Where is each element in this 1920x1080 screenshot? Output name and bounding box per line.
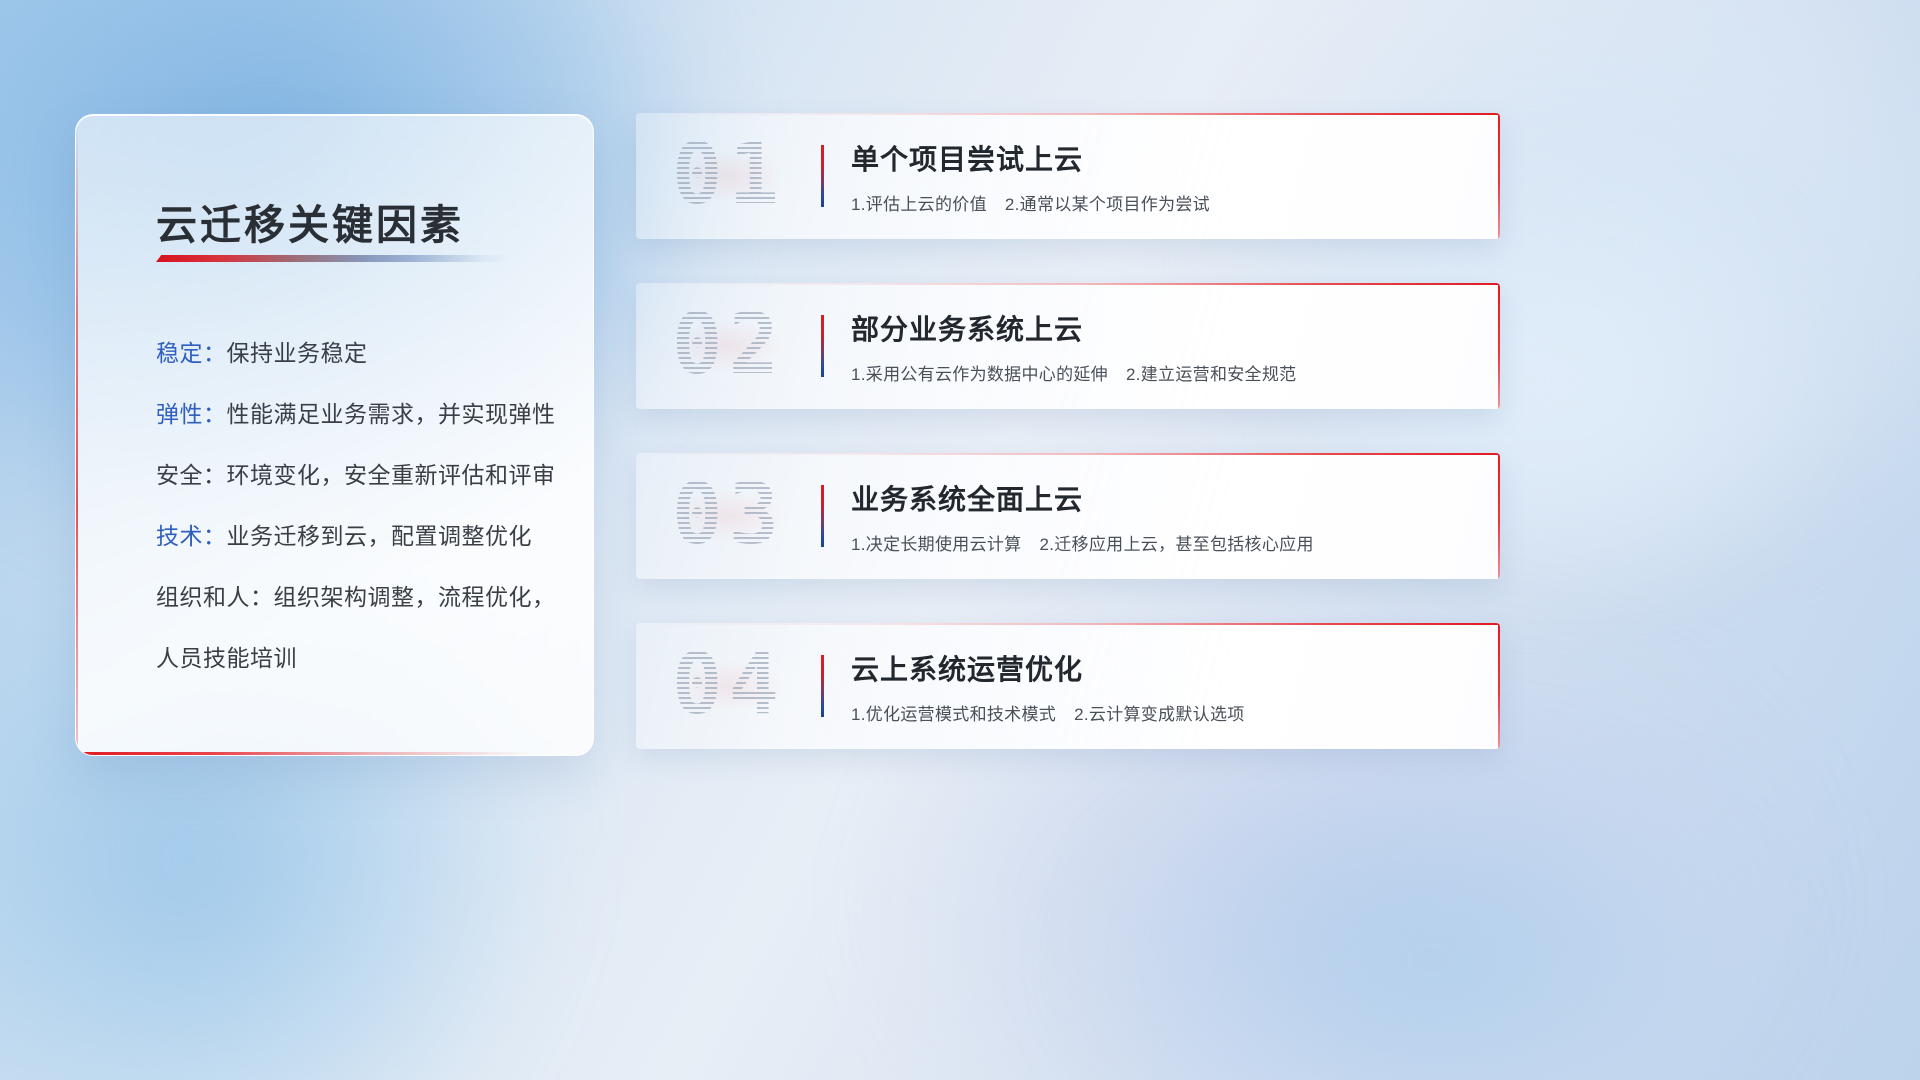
step-number-badge: 03 (636, 453, 821, 579)
list-item: 稳定：保持业务稳定 (156, 323, 565, 384)
list-item-key: 稳定： (156, 340, 227, 366)
step-divider-accent (821, 315, 824, 377)
step-description-part-2: 2.云计算变成默认选项 (1074, 705, 1244, 724)
key-factors-card: 云迁移关键因素 稳定：保持业务稳定 弹性：性能满足业务需求，并实现弹性 安全：环… (75, 114, 594, 756)
list-item-key: 弹性： (156, 401, 227, 427)
step-description: 1.采用公有云作为数据中心的延伸2.建立运营和安全规范 (851, 360, 1476, 385)
step-card-02[interactable]: 02 部分业务系统上云 1.采用公有云作为数据中心的延伸2.建立运营和安全规范 (636, 283, 1500, 409)
list-item-text: 性能满足业务需求，并实现弹性 (227, 401, 556, 427)
step-title: 部分业务系统上云 (851, 308, 1476, 348)
step-title: 单个项目尝试上云 (851, 138, 1476, 178)
list-item-text: 保持业务稳定 (227, 340, 368, 366)
step-card-01[interactable]: 01 单个项目尝试上云 1.评估上云的价值2.通常以某个项目作为尝试 (636, 113, 1500, 239)
list-item-text: 环境变化，安全重新评估和评审 (227, 462, 556, 488)
list-item: 技术：业务迁移到云，配置调整优化 (156, 506, 565, 567)
step-title: 业务系统全面上云 (851, 478, 1476, 518)
step-number-text: 03 (672, 472, 785, 556)
step-description-part-1: 1.决定长期使用云计算 (851, 535, 1021, 554)
step-divider-accent (821, 485, 824, 547)
step-description: 1.评估上云的价值2.通常以某个项目作为尝试 (851, 190, 1476, 215)
step-title: 云上系统运营优化 (851, 648, 1476, 688)
step-number-badge: 01 (636, 113, 821, 239)
step-number-badge: 04 (636, 623, 821, 749)
step-divider-accent (821, 655, 824, 717)
step-number-badge: 02 (636, 283, 821, 409)
title-underline-accent (156, 255, 511, 262)
step-description-part-1: 1.评估上云的价值 (851, 195, 987, 214)
list-item-text: 业务迁移到云，配置调整优化 (227, 523, 533, 549)
step-description: 1.决定长期使用云计算2.迁移应用上云，甚至包括核心应用 (851, 530, 1476, 555)
list-item-key: 安全： (156, 462, 227, 488)
migration-steps-list: 01 单个项目尝试上云 1.评估上云的价值2.通常以某个项目作为尝试 02 部分… (636, 113, 1500, 793)
step-number-text: 04 (672, 642, 785, 726)
step-number-text: 02 (672, 302, 785, 386)
list-item-key: 组织和人： (156, 584, 274, 610)
list-item-key: 技术： (156, 523, 227, 549)
step-description-part-1: 1.采用公有云作为数据中心的延伸 (851, 365, 1108, 384)
step-description-part-1: 1.优化运营模式和技术模式 (851, 705, 1056, 724)
step-card-04[interactable]: 04 云上系统运营优化 1.优化运营模式和技术模式2.云计算变成默认选项 (636, 623, 1500, 749)
step-description-part-2: 2.建立运营和安全规范 (1126, 365, 1296, 384)
step-divider-accent (821, 145, 824, 207)
step-number-text: 01 (672, 132, 785, 216)
step-description-part-2: 2.通常以某个项目作为尝试 (1005, 195, 1210, 214)
step-description-part-2: 2.迁移应用上云，甚至包括核心应用 (1039, 535, 1313, 554)
step-card-03[interactable]: 03 业务系统全面上云 1.决定长期使用云计算2.迁移应用上云，甚至包括核心应用 (636, 453, 1500, 579)
key-factors-list: 稳定：保持业务稳定 弹性：性能满足业务需求，并实现弹性 安全：环境变化，安全重新… (156, 323, 565, 689)
list-item-text: 人员技能培训 (156, 645, 297, 671)
list-item: 弹性：性能满足业务需求，并实现弹性 (156, 384, 565, 445)
step-description: 1.优化运营模式和技术模式2.云计算变成默认选项 (851, 700, 1476, 725)
list-item-text: 组织架构调整，流程优化， (274, 584, 556, 610)
list-item: 安全：环境变化，安全重新评估和评审 (156, 445, 565, 506)
page-title: 云迁移关键因素 (156, 191, 464, 251)
list-item: 组织和人：组织架构调整，流程优化， (156, 567, 565, 628)
list-item-continuation: 人员技能培训 (156, 628, 565, 689)
